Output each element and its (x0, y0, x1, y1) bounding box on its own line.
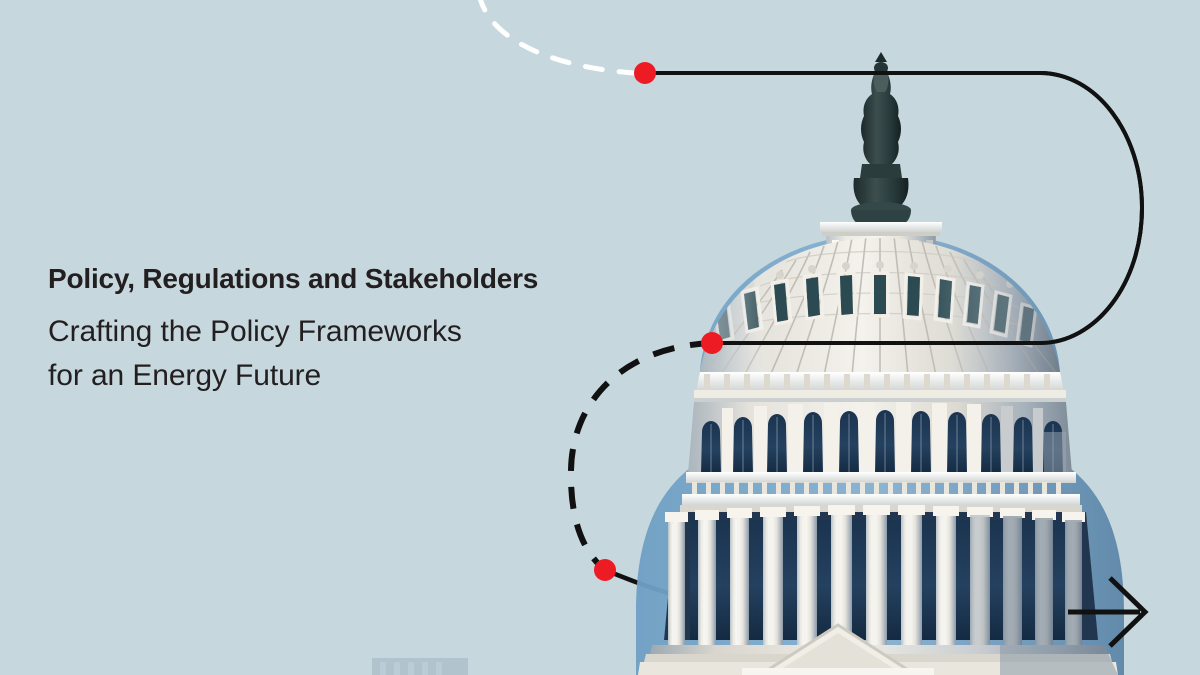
slide-text-block: Policy, Regulations and Stakeholders Cra… (48, 262, 608, 398)
node-top-dot (634, 62, 656, 84)
dome-drum (680, 402, 1082, 513)
node-middle-dot (701, 332, 723, 354)
left-building-hint (372, 658, 468, 675)
drum-windows (701, 402, 1066, 474)
page-subtitle: Crafting the Policy Frameworks for an En… (48, 310, 608, 398)
page-title: Policy, Regulations and Stakeholders (48, 262, 608, 296)
node-bottom-dot (594, 559, 616, 581)
presentation-slide: Policy, Regulations and Stakeholders Cra… (0, 0, 1200, 675)
peristyle-colonnade (664, 505, 1098, 651)
